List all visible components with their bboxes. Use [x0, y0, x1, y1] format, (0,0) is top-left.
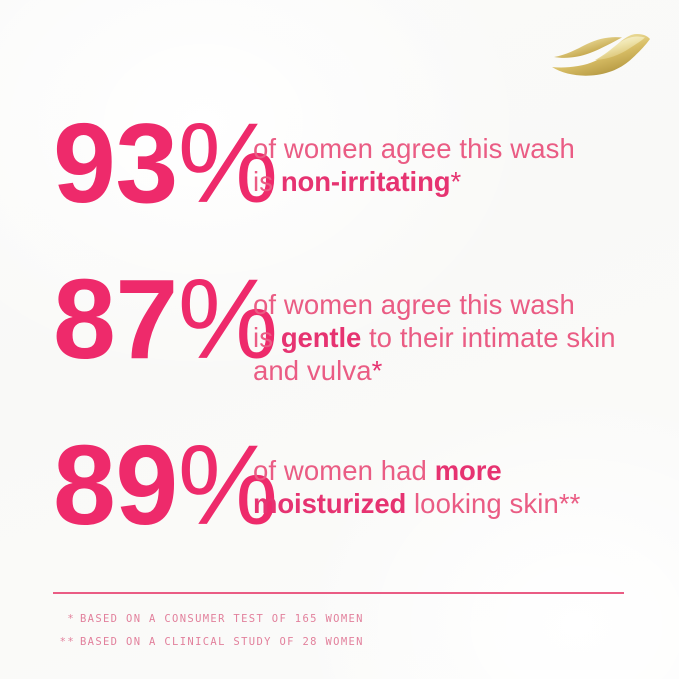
- footnotes: *BASED ON A CONSUMER TEST OF 165 WOMEN *…: [53, 608, 613, 654]
- text-fragment: looking skin: [406, 488, 559, 519]
- footnote-marker: *: [451, 166, 462, 197]
- stat-line: is non-irritating*: [253, 165, 649, 198]
- stat-row: 93% of women agree this wash is non-irri…: [53, 116, 649, 211]
- dove-bird-logo: [547, 24, 657, 82]
- footnote-item: **BASED ON A CLINICAL STUDY OF 28 WOMEN: [53, 631, 613, 654]
- stat-value: 87: [53, 256, 178, 382]
- stat-description: of women agree this wash is gentle to th…: [253, 272, 649, 387]
- footnote-marker: **: [559, 488, 581, 519]
- stat-figure: 87%: [53, 272, 253, 367]
- footnote-divider: [53, 592, 624, 594]
- footnote-item: *BASED ON A CONSUMER TEST OF 165 WOMEN: [53, 608, 613, 631]
- text-fragment: is: [253, 166, 281, 197]
- text-fragment-bold: non-irritating: [281, 166, 451, 197]
- stat-line: of women agree this wash: [253, 288, 649, 321]
- footnote-mark: *: [53, 608, 80, 631]
- text-fragment: and vulva: [253, 355, 372, 386]
- text-fragment: of women agree this wash: [253, 289, 575, 320]
- stat-line: and vulva*: [253, 354, 649, 387]
- text-fragment: of women had: [253, 455, 435, 486]
- footnote-mark: **: [53, 631, 80, 654]
- stat-row: 87% of women agree this wash is gentle t…: [53, 272, 649, 387]
- stat-value: 89: [53, 422, 178, 548]
- stat-value: 93: [53, 100, 178, 226]
- stat-description: of women agree this wash is non-irritati…: [253, 116, 649, 198]
- promo-poster: 93% of women agree this wash is non-irri…: [0, 0, 679, 679]
- footnote-text: BASED ON A CONSUMER TEST OF 165 WOMEN: [80, 613, 364, 625]
- stat-line: of women agree this wash: [253, 132, 649, 165]
- stat-line: moisturized looking skin**: [253, 487, 649, 520]
- footnote-text: BASED ON A CLINICAL STUDY OF 28 WOMEN: [80, 636, 364, 648]
- text-fragment-bold: moisturized: [253, 488, 406, 519]
- stat-figure: 93%: [53, 116, 253, 211]
- text-fragment: to their intimate skin: [361, 322, 616, 353]
- stat-figure: 89%: [53, 438, 253, 533]
- stat-line: of women had more: [253, 454, 649, 487]
- stat-row: 89% of women had more moisturized lookin…: [53, 438, 649, 533]
- stat-description: of women had more moisturized looking sk…: [253, 438, 649, 520]
- text-fragment-bold: more: [435, 455, 502, 486]
- text-fragment-bold: gentle: [281, 322, 361, 353]
- footnote-marker: *: [372, 355, 383, 386]
- text-fragment: is: [253, 322, 281, 353]
- stat-line: is gentle to their intimate skin: [253, 321, 649, 354]
- text-fragment: of women agree this wash: [253, 133, 575, 164]
